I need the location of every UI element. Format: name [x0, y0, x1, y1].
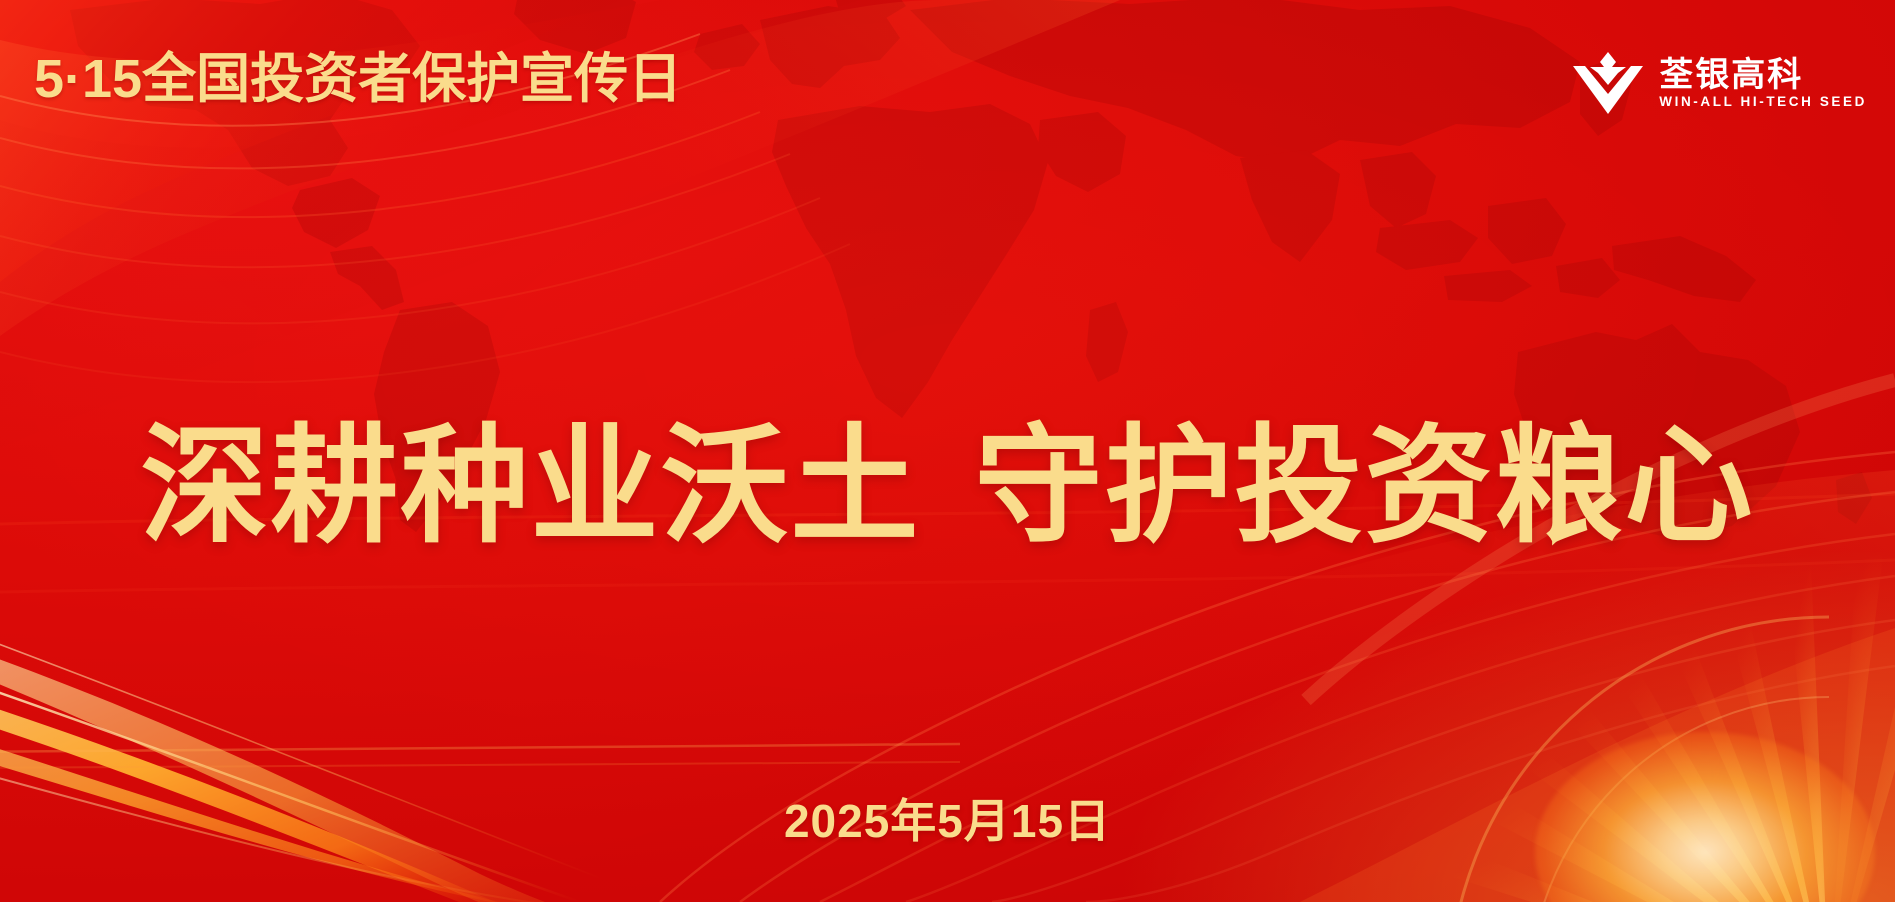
event-date: 2025年5月15日: [0, 798, 1895, 844]
chevron-diamond-icon: [1573, 52, 1643, 114]
company-name-cn: 荃银高科: [1659, 58, 1867, 92]
main-headline: 深耕种业沃土守护投资粮心: [0, 418, 1895, 556]
investor-protection-day-banner: 5·15全国投资者保护宣传日 荃银高科 WIN-ALL HI-TECH SEED…: [0, 0, 1895, 902]
logo-wordmark: 荃银高科 WIN-ALL HI-TECH SEED: [1659, 58, 1867, 109]
company-logo: 荃银高科 WIN-ALL HI-TECH SEED: [1573, 52, 1867, 114]
headline-part-1: 深耕种业沃土: [140, 415, 920, 558]
campaign-eyebrow-title: 5·15全国投资者保护宣传日: [34, 52, 682, 106]
company-name-en: WIN-ALL HI-TECH SEED: [1659, 95, 1867, 109]
headline-part-2: 守护投资粮心: [975, 415, 1755, 558]
